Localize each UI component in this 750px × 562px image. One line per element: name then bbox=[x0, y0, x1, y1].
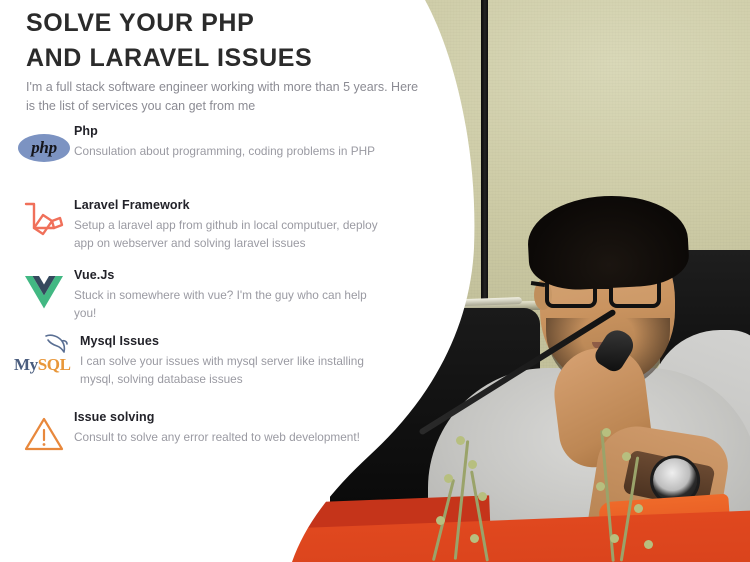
service-item-laravel[interactable]: Laravel Framework Setup a laravel app fr… bbox=[14, 196, 434, 254]
promo-poster: SOLVE YOUR PHP AND LARAVEL ISSUES I'm a … bbox=[0, 0, 750, 562]
service-title: Issue solving bbox=[74, 410, 434, 424]
headline-line-1: SOLVE YOUR PHP bbox=[26, 6, 426, 41]
service-description: Stuck in somewhere with vue? I'm the guy… bbox=[74, 287, 384, 322]
service-title: Laravel Framework bbox=[74, 198, 434, 212]
php-logo-icon: php bbox=[14, 122, 74, 172]
vuejs-logo-icon bbox=[14, 266, 74, 316]
wall-pole bbox=[481, 0, 488, 300]
service-text: Php Consulation about programming, codin… bbox=[74, 122, 434, 161]
service-title: Php bbox=[74, 124, 434, 138]
service-item-vuejs[interactable]: Vue.Js Stuck in somewhere with vue? I'm … bbox=[14, 266, 434, 324]
mysql-dolphin-icon bbox=[44, 333, 68, 355]
service-text: Laravel Framework Setup a laravel app fr… bbox=[74, 196, 434, 252]
service-title: Vue.Js bbox=[74, 268, 434, 282]
page-title: SOLVE YOUR PHP AND LARAVEL ISSUES bbox=[26, 6, 426, 75]
service-text: Vue.Js Stuck in somewhere with vue? I'm … bbox=[74, 266, 434, 322]
service-description: Setup a laravel app from github in local… bbox=[74, 217, 384, 252]
mysql-logo-icon: MySQL bbox=[14, 332, 80, 382]
warning-triangle-icon bbox=[14, 408, 74, 458]
service-item-php[interactable]: php Php Consulation about programming, c… bbox=[14, 122, 434, 180]
service-description: Consult to solve any error realted to we… bbox=[74, 429, 384, 447]
service-text: Issue solving Consult to solve any error… bbox=[74, 408, 434, 447]
service-description: Consulation about programming, coding pr… bbox=[74, 143, 384, 161]
service-description: I can solve your issues with mysql serve… bbox=[80, 353, 390, 388]
service-title: Mysql Issues bbox=[80, 334, 434, 348]
intro-paragraph: I'm a full stack software engineer worki… bbox=[26, 78, 426, 117]
services-list: php Php Consulation about programming, c… bbox=[14, 122, 434, 470]
service-item-mysql[interactable]: MySQL Mysql Issues I can solve your issu… bbox=[14, 332, 434, 390]
laravel-logo-icon bbox=[14, 196, 74, 246]
headline-line-2: AND LARAVEL ISSUES bbox=[26, 41, 426, 76]
php-logo-text: php bbox=[18, 134, 70, 162]
mysql-wordmark: MySQL bbox=[14, 341, 80, 375]
service-text: Mysql Issues I can solve your issues wit… bbox=[80, 332, 434, 388]
poster-content: SOLVE YOUR PHP AND LARAVEL ISSUES I'm a … bbox=[0, 0, 470, 562]
service-item-issue-solving[interactable]: Issue solving Consult to solve any error… bbox=[14, 408, 434, 466]
mysql-text-sql: SQL bbox=[38, 355, 71, 375]
mysql-text-my: My bbox=[14, 355, 38, 375]
